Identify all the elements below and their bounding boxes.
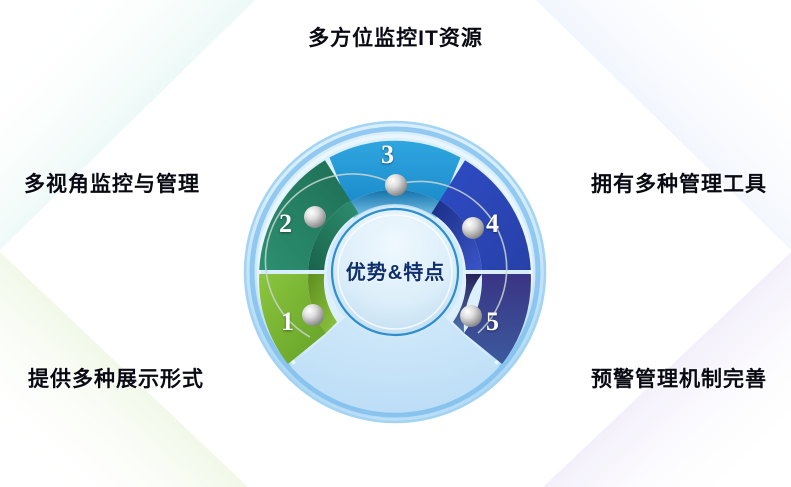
label-right-bottom: 预警管理机制完善 — [591, 363, 767, 393]
marker-5-sphere[interactable] — [460, 305, 482, 327]
marker-3-sphere[interactable] — [385, 174, 407, 196]
label-left-bottom: 提供多种展示形式 — [28, 363, 204, 393]
diagram-canvas: 1 2 3 4 5 优势&特点 多方位监控IT资源 多视角监控与管理 提供多种展… — [0, 0, 791, 487]
marker-4-sphere[interactable] — [462, 217, 484, 239]
diagram-graphics — [0, 0, 791, 487]
center-title: 优势&特点 — [0, 256, 791, 285]
marker-2-sphere[interactable] — [304, 206, 326, 228]
label-top: 多方位监控IT资源 — [0, 22, 791, 52]
label-left-top: 多视角监控与管理 — [24, 168, 200, 198]
marker-1-sphere[interactable] — [302, 304, 324, 326]
label-right-top: 拥有多种管理工具 — [591, 168, 767, 198]
